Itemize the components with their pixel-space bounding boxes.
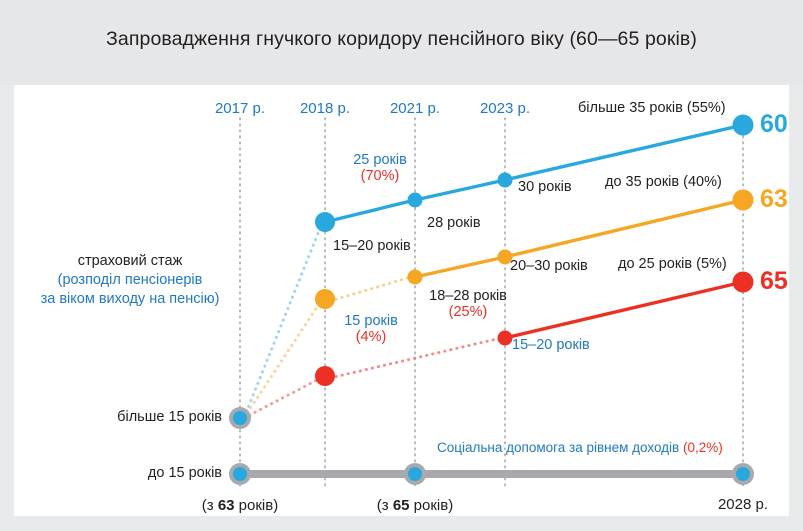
end-label-65-text: до 25 років — [618, 256, 696, 272]
marker-63-2018 — [315, 289, 335, 309]
social-assistance-text: Соціальна допомога за рівнем доходів — [437, 440, 683, 455]
note-from-65-number: 65 — [393, 497, 410, 514]
marker-origin-upper — [233, 411, 247, 425]
origin-label-lower: до 15 років — [60, 465, 222, 482]
line-series-65 — [505, 282, 743, 338]
end-value-65: 65 — [760, 267, 788, 296]
note-from-65-prefix: (з — [377, 497, 393, 514]
end-label-65-percent: (5%) — [696, 256, 727, 272]
marker-60-2023 — [498, 173, 513, 188]
social-assistance-note: Соціальна допомога за рівнем доходів (0,… — [437, 440, 723, 455]
marker-baseline-2021 — [408, 467, 422, 481]
note-from-63: (з 63 років) — [185, 497, 295, 514]
marker-60-2021 — [408, 193, 423, 208]
marker-65-2028 — [733, 272, 754, 293]
origin-label-upper: більше 15 років — [60, 409, 222, 426]
annotation-red-15-20-text: 15–20 років — [512, 337, 590, 353]
end-label-63-percent: (40%) — [683, 174, 722, 190]
end-value-60: 60 — [760, 110, 788, 139]
end-label-60-text: більше 35 років — [578, 100, 687, 116]
legend-line-2: (розподіл пенсіонерів — [40, 271, 220, 290]
social-assistance-percent: (0,2%) — [683, 440, 723, 455]
annotation-blue-15-20: 15–20 років — [333, 238, 411, 254]
connector-origin-to-2018-red — [244, 378, 321, 418]
annotation-30-rokiv-text: 30 років — [518, 179, 572, 195]
annotation-20-30-rokiv: 20–30 років — [510, 258, 588, 274]
note-from-63-prefix: (з — [202, 497, 218, 514]
annotation-18-28-rokiv-text: 18–28 років — [413, 288, 523, 304]
end-value-63: 63 — [760, 185, 788, 214]
annotation-15-rokiv-text: 15 років — [323, 313, 419, 329]
end-label-60: більше 35 років (55%) — [578, 100, 726, 117]
annotation-25-rokiv-percent: (70%) — [330, 168, 430, 184]
end-label-63-text: до 35 років — [605, 174, 683, 190]
marker-65-2018 — [315, 366, 335, 386]
annotation-28-rokiv-text: 28 років — [427, 215, 481, 231]
end-label-65: до 25 років (5%) — [618, 256, 727, 273]
connector-2018-2021-orange — [330, 277, 411, 301]
annotation-28-rokiv: 28 років — [427, 215, 481, 231]
marker-65-2023 — [498, 331, 513, 346]
annotation-15-rokiv: 15 років (4%) — [323, 313, 419, 345]
annotation-18-28-rokiv-percent: (25%) — [413, 304, 523, 320]
note-from-65: (з 65 років) — [360, 497, 470, 514]
annotation-18-28-rokiv: 18–28 років (25%) — [413, 288, 523, 320]
legend-block: страховий стаж (розподіл пенсіонерів за … — [40, 252, 220, 309]
connector-origin-to-2018-blue — [244, 226, 321, 418]
year-label-2023: 2023 р. — [450, 100, 560, 117]
note-from-65-suffix: років) — [410, 497, 454, 514]
year-label-2028: 2028 р. — [688, 496, 798, 513]
marker-60-2028 — [733, 115, 754, 136]
legend-line-3: за віком виходу на пенсію) — [40, 290, 220, 309]
annotation-15-rokiv-percent: (4%) — [323, 329, 419, 345]
annotation-25-rokiv-text: 25 років — [330, 152, 430, 168]
end-label-63: до 35 років (40%) — [605, 174, 722, 191]
note-from-63-number: 63 — [218, 497, 235, 514]
marker-baseline-2017 — [233, 467, 247, 481]
marker-60-2018 — [315, 212, 335, 232]
annotation-blue-15-20-text: 15–20 років — [333, 238, 411, 254]
connector-origin-to-2018-orange — [244, 301, 321, 418]
note-from-63-suffix: років) — [235, 497, 279, 514]
marker-63-2028 — [733, 190, 754, 211]
marker-baseline-2028 — [736, 467, 750, 481]
annotation-25-rokiv: 25 років (70%) — [330, 152, 430, 184]
annotation-20-30-rokiv-text: 20–30 років — [510, 258, 588, 274]
end-label-60-percent: (55%) — [687, 100, 726, 116]
legend-line-1: страховий стаж — [40, 252, 220, 271]
marker-63-2021 — [408, 270, 423, 285]
annotation-red-15-20: 15–20 років — [512, 337, 590, 353]
annotation-30-rokiv: 30 років — [518, 179, 572, 195]
